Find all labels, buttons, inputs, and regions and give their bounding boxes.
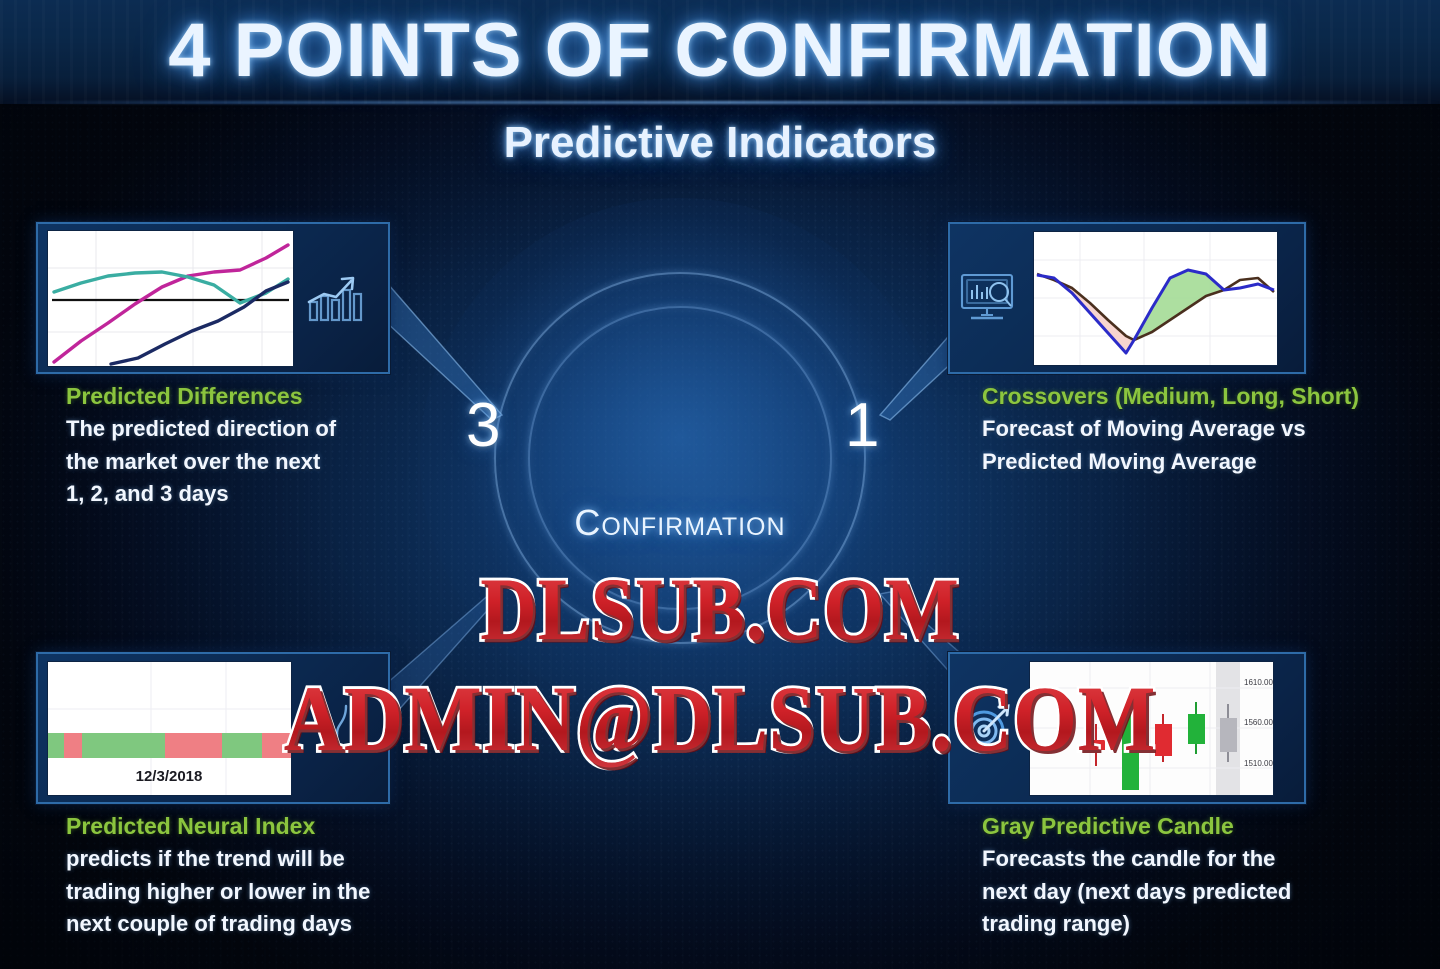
neural-index-chart: 12/3/2018	[47, 661, 292, 796]
watermark-line-2: ADMIN@DLSUB.COM	[284, 665, 1157, 772]
predicted-differences-chart	[47, 230, 294, 367]
hub-label: Confirmation	[500, 502, 860, 544]
page-subtitle: Predictive Indicators	[0, 118, 1440, 168]
body-line: Predicted Moving Average	[982, 446, 1359, 479]
body-line: 1, 2, and 3 days	[66, 478, 390, 511]
crossovers-chart	[1033, 231, 1278, 366]
quadrant-text: Predicted Neural Index predicts if the t…	[66, 813, 390, 941]
price-label: 1610.00	[1244, 678, 1273, 687]
body-line: trading higher or lower in the	[66, 876, 390, 909]
price-label: 1510.00	[1244, 759, 1273, 768]
body-line: Forecasts the candle for the	[982, 843, 1306, 876]
quadrant-body: Forecast of Moving Average vs Predicted …	[982, 413, 1359, 478]
quadrant-heading: Gray Predictive Candle	[982, 813, 1306, 840]
quadrant-text: Predicted Differences The predicted dire…	[66, 383, 390, 511]
page-title: 4 POINTS OF CONFIRMATION	[0, 8, 1440, 93]
body-line: The predicted direction of	[66, 413, 390, 446]
slide-canvas: 4 POINTS OF CONFIRMATION Predictive Indi…	[0, 0, 1440, 969]
quadrant-heading: Predicted Differences	[66, 383, 390, 410]
thumbnail-card	[36, 222, 390, 374]
body-line: next day (next days predicted	[982, 876, 1306, 909]
body-line: predicts if the trend will be	[66, 843, 390, 876]
quadrant-heading: Predicted Neural Index	[66, 813, 390, 840]
price-label: 1560.00	[1244, 718, 1273, 727]
quadrant-text: Crossovers (Medium, Long, Short) Forecas…	[982, 383, 1359, 478]
neural-index-date-label: 12/3/2018	[136, 768, 203, 785]
watermark-line-1: DLSUB.COM	[480, 558, 959, 661]
quadrant-text: Gray Predictive Candle Forecasts the can…	[982, 813, 1306, 941]
bar-chart-growth-icon	[306, 272, 364, 324]
monitor-analytics-icon	[959, 271, 1019, 325]
quadrant-body: The predicted direction of the market ov…	[66, 413, 390, 511]
body-line: Forecast of Moving Average vs	[982, 413, 1359, 446]
quadrant-predicted-differences[interactable]: Predicted Differences The predicted dire…	[36, 222, 390, 511]
quadrant-body: Forecasts the candle for the next day (n…	[982, 843, 1306, 941]
thumbnail-card	[948, 222, 1306, 374]
quadrant-crossovers[interactable]: Crossovers (Medium, Long, Short) Forecas…	[948, 222, 1359, 478]
body-line: trading range)	[982, 908, 1306, 941]
step-number-1: 1	[845, 395, 879, 457]
body-line: the market over the next	[66, 446, 390, 479]
step-number-3: 3	[466, 395, 500, 457]
quadrant-heading: Crossovers (Medium, Long, Short)	[982, 383, 1359, 410]
quadrant-body: predicts if the trend will be trading hi…	[66, 843, 390, 941]
body-line: next couple of trading days	[66, 908, 390, 941]
